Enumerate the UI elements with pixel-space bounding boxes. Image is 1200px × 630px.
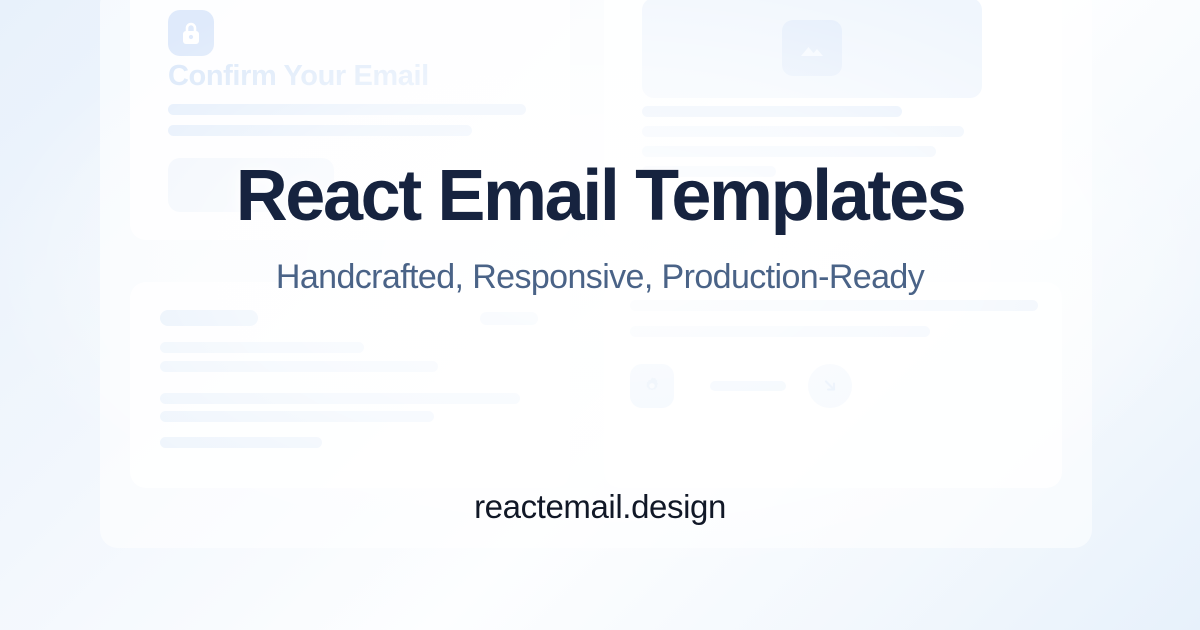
arrow-down-right-icon [808, 364, 852, 408]
skeleton-line [168, 104, 526, 115]
mock-card-heading: Confirm Your Email [168, 60, 429, 93]
mock-template-stage: Confirm Your Email [100, 0, 1092, 548]
skeleton-line [160, 411, 434, 422]
mock-card-settings [604, 282, 1062, 488]
mock-card-image-hero [604, 0, 1062, 240]
skeleton-line [642, 166, 776, 177]
skeleton-line [168, 125, 472, 136]
skeleton-line [642, 126, 964, 137]
skeleton-line [630, 326, 930, 337]
mock-tag-badge [160, 310, 258, 326]
skeleton-line [642, 106, 902, 117]
lock-icon [168, 10, 214, 56]
gear-icon [630, 364, 674, 408]
og-image-canvas: Confirm Your Email [0, 0, 1200, 630]
skeleton-line [630, 300, 1038, 311]
connector-line [710, 381, 786, 391]
skeleton-line [160, 342, 364, 353]
mock-button-block [168, 158, 334, 212]
skeleton-line [160, 437, 322, 448]
mock-status-badge [480, 312, 538, 325]
skeleton-line [642, 146, 936, 157]
mock-card-article [130, 282, 570, 488]
mock-card-confirm-email: Confirm Your Email [130, 0, 570, 240]
skeleton-line [160, 393, 520, 404]
image-placeholder-icon [782, 20, 842, 76]
skeleton-line [160, 361, 438, 372]
mock-image-hero-block [642, 0, 982, 98]
